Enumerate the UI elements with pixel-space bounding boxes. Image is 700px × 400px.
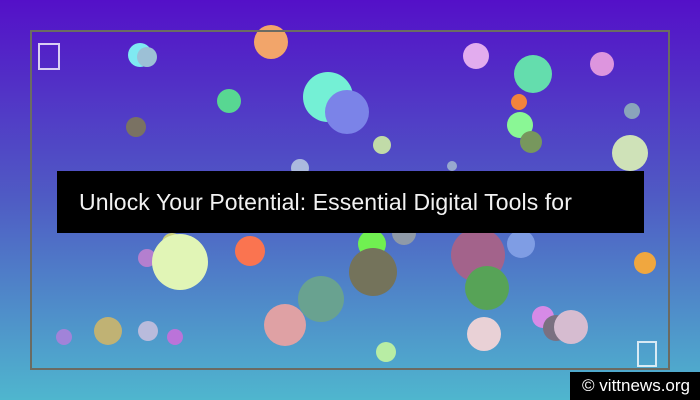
watermark: © vittnews.org — [570, 372, 700, 400]
top-left-marker — [38, 43, 60, 70]
headline-banner: Unlock Your Potential: Essential Digital… — [57, 171, 644, 233]
bottom-right-marker — [637, 341, 657, 367]
headline-text: Unlock Your Potential: Essential Digital… — [79, 189, 572, 216]
promo-banner-image: Unlock Your Potential: Essential Digital… — [0, 0, 700, 400]
watermark-text: © vittnews.org — [582, 376, 690, 396]
